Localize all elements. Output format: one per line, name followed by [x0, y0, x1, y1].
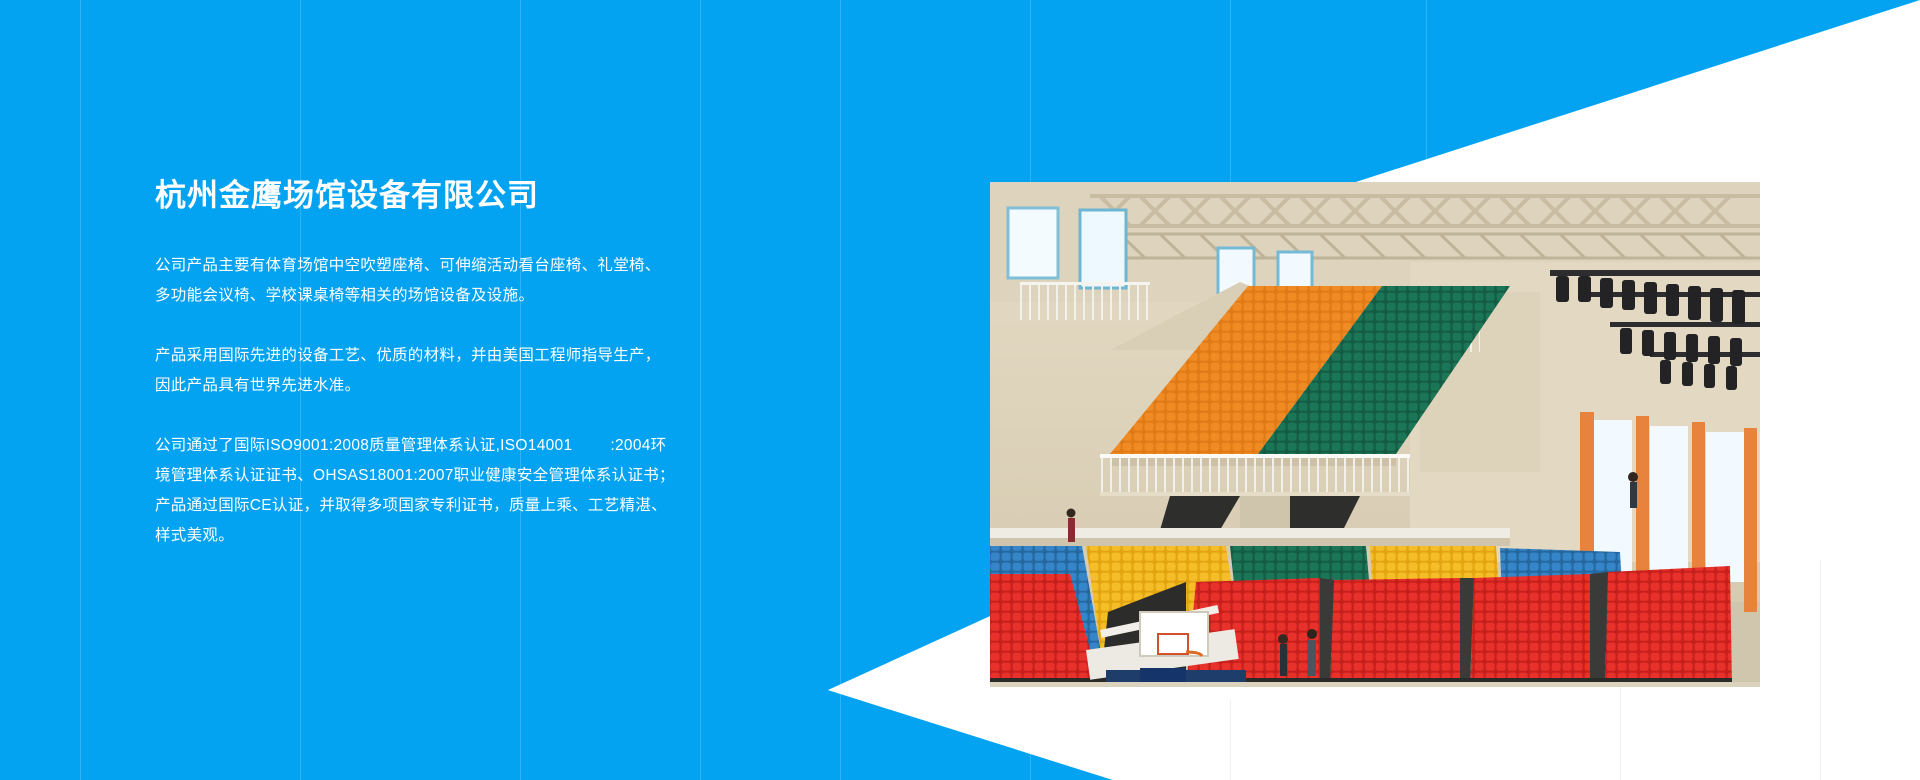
arena-photo-illustration	[990, 182, 1760, 687]
cert-text-part1: 公司通过了国际ISO9001:2008质量管理体系认证,ISO14001	[155, 437, 572, 454]
hero-banner: 杭州金鹰场馆设备有限公司 公司产品主要有体育场馆中空吹塑座椅、可伸缩活动看台座椅…	[0, 0, 1920, 780]
page-title: 杭州金鹰场馆设备有限公司	[155, 178, 675, 215]
intro-paragraph-products: 公司产品主要有体育场馆中空吹塑座椅、可伸缩活动看台座椅、礼堂椅、多功能会议椅、学…	[155, 251, 675, 311]
intro-paragraph-certifications: 公司通过了国际ISO9001:2008质量管理体系认证,ISO14001:200…	[155, 431, 675, 551]
intro-paragraph-quality: 产品采用国际先进的设备工艺、优质的材料，并由美国工程师指导生产，因此产品具有世界…	[155, 341, 675, 401]
arena-photo	[990, 182, 1760, 687]
hero-text-column: 杭州金鹰场馆设备有限公司 公司产品主要有体育场馆中空吹塑座椅、可伸缩活动看台座椅…	[155, 178, 675, 551]
